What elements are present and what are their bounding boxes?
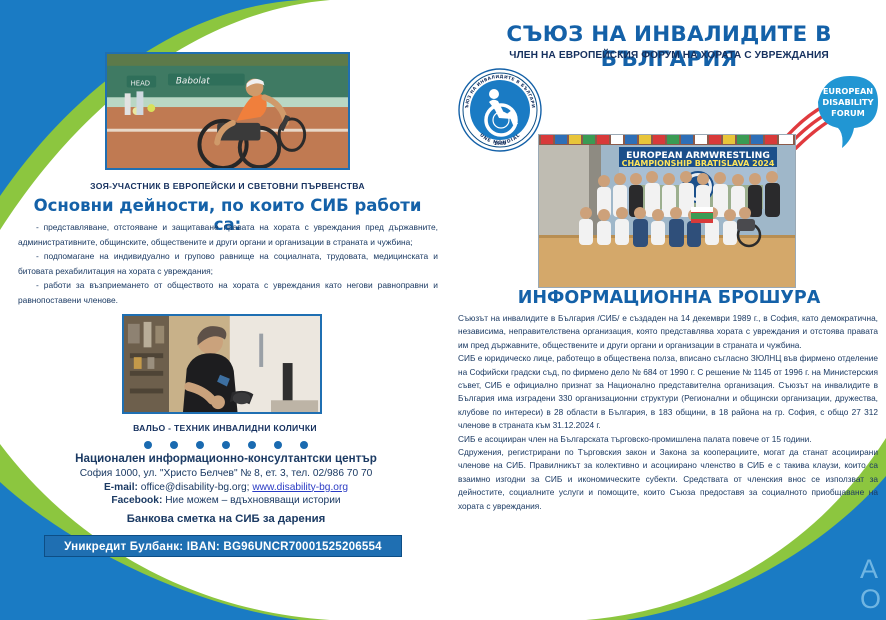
facebook-value: Ние можем – вдъхновяващи истории — [165, 495, 340, 506]
svg-text:HEAD: HEAD — [131, 79, 151, 87]
sib-logo-year-text: 1989 — [494, 141, 506, 147]
sib-wheelchair-logo: СЪЮЗ НА ИНВАЛИДИТЕ В БЪЛГАРИЯ UNE MONDIA… — [456, 66, 544, 154]
email-value: office@disability-bg.org; — [141, 482, 250, 493]
brochure-paragraph: СИБ е юридическо лице, работещо в общест… — [458, 352, 878, 432]
iban-bar: Уникредит Булбанк: IBAN: BG96UNCR7000152… — [44, 535, 402, 557]
facebook-label: Facebook: — [111, 495, 162, 506]
activities-list: - представляване, отстояване и защитаван… — [18, 220, 438, 308]
armwrestling-team-photo: EUROPEAN ARMWRESTLING CHAMPIONSHIP BRATI… — [538, 134, 796, 288]
brochure-paragraph: Сдружения, регистрирани по Търговския за… — [458, 446, 878, 513]
edf-logo-line-3: FORUM — [831, 108, 865, 118]
contact-email-line: E-mail: office@disability-bg.org; www.di… — [10, 482, 442, 493]
edf-logo-line-2: DISABILITY — [822, 97, 874, 107]
technician-photo-caption: ВАЛЬО - ТЕХНИК ИНВАЛИДНИ КОЛИЧКИ — [60, 423, 390, 433]
wheelchair-technician-photo — [122, 314, 322, 414]
right-column: СЪЮЗ НА ИНВАЛИДИТЕ В БЪЛГАРИЯ ЧЛЕН НА ЕВ… — [452, 0, 886, 620]
armwrestling-photo-illustration: EUROPEAN ARMWRESTLING CHAMPIONSHIP BRATI… — [539, 135, 795, 287]
separator-dot — [248, 441, 256, 449]
contact-center-title: Национален информационно-консултантски ц… — [10, 452, 442, 465]
activity-item: - подпомагане на индивидуално и групово … — [18, 249, 438, 278]
organization-subtitle: ЧЛЕН НА ЕВРОПЕЙСКИЯ ФОРУМ НА ХОРАТА С УВ… — [452, 50, 886, 61]
brochure-page: А О Babolat HEAD — [0, 0, 886, 620]
tennis-photo-illustration: Babolat HEAD — [107, 54, 348, 170]
dot-separator — [0, 434, 452, 453]
technician-photo-illustration — [124, 316, 320, 414]
website-link[interactable]: www.disability-bg.org — [252, 482, 348, 493]
svg-text:Babolat: Babolat — [176, 77, 210, 87]
banner-line-2: CHAMPIONSHIP BRATISLAVA 2024 — [622, 159, 775, 168]
brochure-paragraph: Съюзът на инвалидите в България /СИБ/ е … — [458, 312, 878, 352]
activity-item: - работи за възприемането от обществото … — [18, 278, 438, 307]
contact-facebook-line: Facebook: Ние можем – вдъхновяващи истор… — [10, 495, 442, 506]
separator-dot — [196, 441, 204, 449]
brochure-paragraph: СИБ е асоцииран член на Българската търг… — [458, 433, 878, 446]
organization-title: СЪЮЗ НА ИНВАЛИДИТЕ В БЪЛГАРИЯ — [452, 22, 886, 72]
separator-dot — [144, 441, 152, 449]
contact-block: Национален информационно-консултантски ц… — [10, 452, 442, 525]
bank-donations-title: Банкова сметка на СИБ за дарения — [10, 513, 442, 525]
contact-address: София 1000, ул. "Христо Белчев" № 8, ет.… — [10, 468, 442, 479]
left-column: Babolat HEAD — [0, 0, 452, 620]
email-label: E-mail: — [104, 482, 138, 493]
separator-dot — [300, 441, 308, 449]
tennis-photo-caption: ЗОЯ-УЧАСТНИК В ЕВРОПЕЙСКИ И СВЕТОВНИ ПЪР… — [40, 181, 415, 191]
tennis-wheelchair-photo: Babolat HEAD — [105, 52, 350, 170]
brochure-body-text: Съюзът на инвалидите в България /СИБ/ е … — [458, 312, 878, 513]
edf-logo-line-1: EUROPEAN — [823, 86, 873, 96]
activity-item: - представляване, отстояване и защитаван… — [18, 220, 438, 249]
separator-dot — [222, 441, 230, 449]
brochure-heading: ИНФОРМАЦИОННА БРОШУРА — [452, 288, 886, 308]
separator-dot — [170, 441, 178, 449]
separator-dot — [274, 441, 282, 449]
